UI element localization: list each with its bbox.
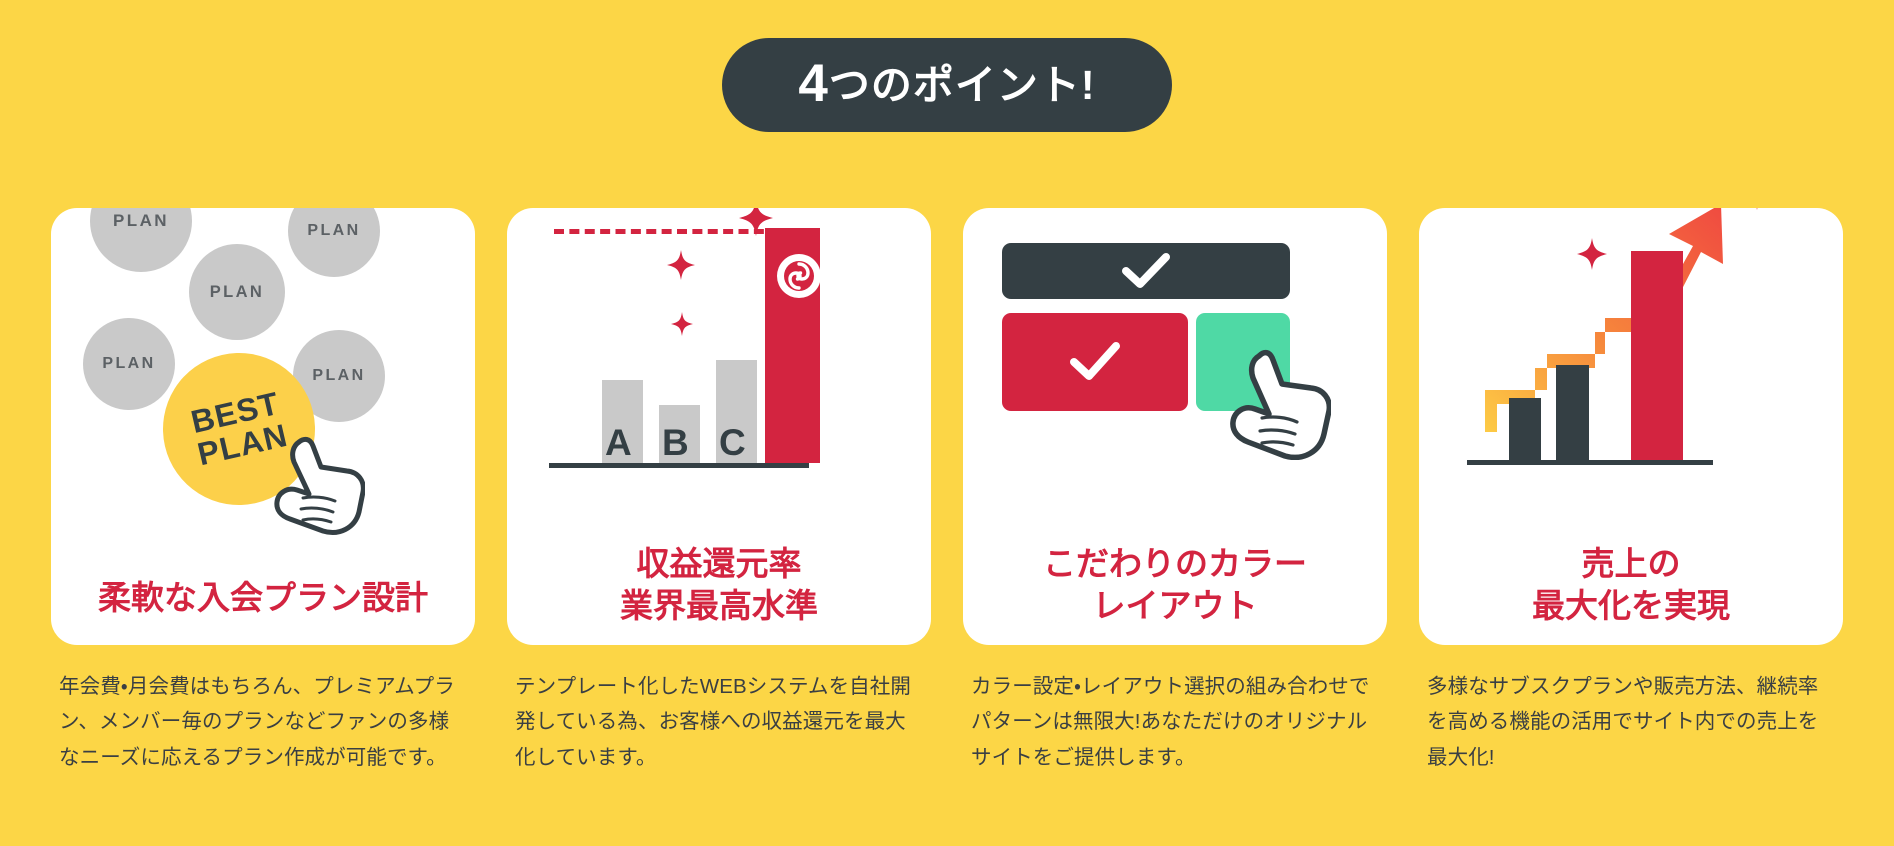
card-surface-sales[interactable]: 売上の 最大化を実現 xyxy=(1419,208,1843,645)
plan-bubble: PLAN xyxy=(288,208,380,277)
bar-label-c: C xyxy=(719,424,746,461)
sales-bar-1 xyxy=(1509,398,1541,460)
pointing-hand-icon xyxy=(269,436,365,536)
card-description-color: カラー設定・レイアウト選択の組み合わせでパターンは無限大!あなただけのオリジナル… xyxy=(963,669,1387,775)
pointing-hand-icon xyxy=(1223,348,1331,460)
color-layout-illustration xyxy=(963,208,1387,548)
sales-bar-2 xyxy=(1556,365,1589,460)
sales-bar-3 xyxy=(1631,251,1683,460)
point-card-plan[interactable]: PLAN PLAN PLAN PLAN PLAN BEST PLAN xyxy=(51,208,475,775)
card-title-line: 売上の xyxy=(1419,543,1843,585)
card-title-line: こだわりのカラー xyxy=(963,543,1387,585)
plan-bubble: PLAN xyxy=(189,244,285,340)
card-description-revenue: テンプレート化したWEBシステムを自社開発している為、お客様への収益還元を最大化… xyxy=(507,669,931,775)
points-section: 4つのポイント! PLAN PLAN PLAN PLAN PLAN BEST P… xyxy=(0,0,1894,846)
card-surface-plan[interactable]: PLAN PLAN PLAN PLAN PLAN BEST PLAN xyxy=(51,208,475,645)
card-surface-revenue[interactable]: A B C 収益還元率 xyxy=(507,208,931,645)
card-description-plan: 年会費・月会費はもちろん、プレミアムプラン、メンバー毎のプランなどファンの多様な… xyxy=(51,669,475,775)
point-card-revenue[interactable]: A B C 収益還元率 xyxy=(507,208,931,775)
bar-label-a: A xyxy=(605,424,632,461)
section-header: 4つのポイント! xyxy=(0,38,1894,132)
card-title-revenue: 収益還元率 業界最高水準 xyxy=(507,543,931,627)
card-title-color: こだわりのカラー レイアウト xyxy=(963,543,1387,627)
point-cards-row: PLAN PLAN PLAN PLAN PLAN BEST PLAN xyxy=(0,208,1894,775)
point-card-color[interactable]: こだわりのカラー レイアウト カラー設定・レイアウト選択の組み合わせでパターンは… xyxy=(963,208,1387,775)
card-title-line: 最大化を実現 xyxy=(1419,585,1843,627)
point-card-sales[interactable]: 売上の 最大化を実現 多様なサブスクプランや販売方法、継続率を高める機能の活用で… xyxy=(1419,208,1843,775)
check-icon xyxy=(1121,252,1171,290)
section-title-number: 4 xyxy=(798,54,828,113)
revenue-chart-illustration: A B C xyxy=(507,208,931,548)
section-title-badge: 4つのポイント! xyxy=(722,38,1171,132)
card-title-plan: 柔軟な入会プラン設計 xyxy=(51,577,475,619)
plan-illustration: PLAN PLAN PLAN PLAN PLAN BEST PLAN xyxy=(51,208,475,548)
card-title-line: 柔軟な入会プラン設計 xyxy=(51,577,475,619)
card-title-line: 収益還元率 xyxy=(507,543,931,585)
layout-header-panel[interactable] xyxy=(1002,243,1290,299)
card-surface-color[interactable]: こだわりのカラー レイアウト xyxy=(963,208,1387,645)
card-title-line: レイアウト xyxy=(963,585,1387,627)
chart-baseline xyxy=(549,463,809,468)
chart-baseline xyxy=(1467,460,1713,465)
card-description-sales: 多様なサブスクプランや販売方法、継続率を高める機能の活用でサイト内での売上を最大… xyxy=(1419,669,1843,775)
bar-label-b: B xyxy=(662,424,689,461)
check-icon xyxy=(1068,341,1122,383)
brand-logo-icon xyxy=(777,254,821,298)
sales-growth-illustration xyxy=(1419,208,1843,548)
sparkle-icon xyxy=(1741,208,1773,215)
revenue-bar-chart: A B C xyxy=(549,228,811,463)
plan-bubble: PLAN xyxy=(83,318,175,410)
section-title-text: つのポイント! xyxy=(829,62,1096,108)
card-title-sales: 売上の 最大化を実現 xyxy=(1419,543,1843,627)
plan-bubble: PLAN xyxy=(90,208,192,272)
layout-primary-panel[interactable] xyxy=(1002,313,1188,411)
sparkle-icon xyxy=(1577,238,1607,275)
card-title-line: 業界最高水準 xyxy=(507,585,931,627)
